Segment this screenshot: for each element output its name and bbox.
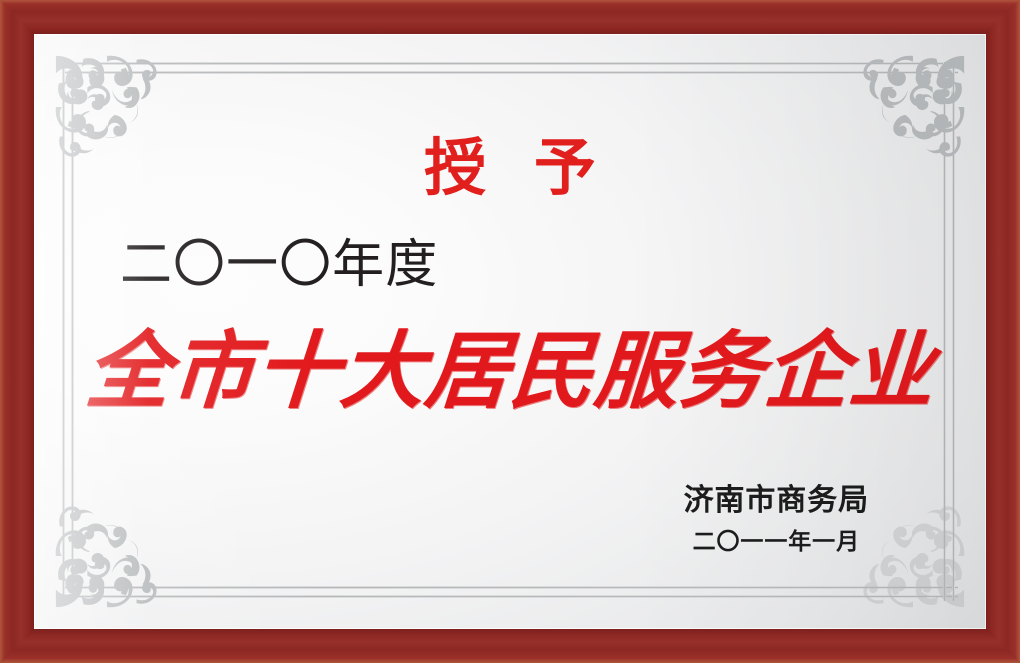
frame-edge-bottom <box>0 629 1020 663</box>
award-plaque: 授 予 二〇一〇年度 全市十大居民服务企业 济南市商务局 二〇一一年一月 <box>0 0 1020 663</box>
frame-edge-right <box>986 0 1020 663</box>
frame-edge-left <box>0 0 34 663</box>
frame-edge-top <box>0 0 1020 34</box>
award-heading: 授 予 <box>34 138 986 200</box>
award-title: 全市十大居民服务企业 <box>34 326 986 415</box>
award-year-line: 二〇一〇年度 <box>120 240 438 292</box>
issuer-block: 济南市商务局 二〇一一年一月 <box>684 484 869 555</box>
plaque-content: 授 予 二〇一〇年度 全市十大居民服务企业 济南市商务局 二〇一一年一月 <box>34 34 986 629</box>
issuer-date: 二〇一一年一月 <box>684 529 869 555</box>
issuer-name: 济南市商务局 <box>684 484 869 519</box>
plaque-plate: 授 予 二〇一〇年度 全市十大居民服务企业 济南市商务局 二〇一一年一月 <box>34 34 986 629</box>
